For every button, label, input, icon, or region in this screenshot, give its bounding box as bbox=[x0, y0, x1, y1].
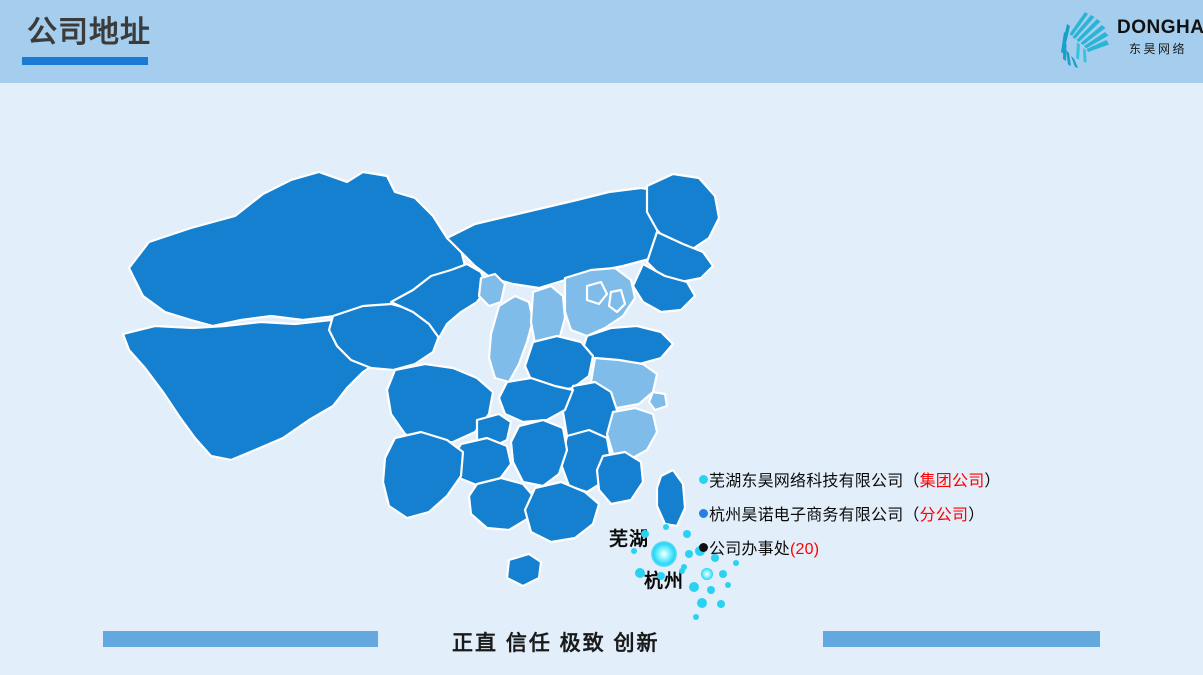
office-dot[interactable] bbox=[681, 564, 687, 570]
china-map[interactable]: 芜湖 杭州 bbox=[95, 120, 735, 620]
logo-subtitle: 东昊网络 bbox=[1117, 40, 1199, 57]
legend-bullet-icon bbox=[699, 475, 708, 484]
footer-bar-left bbox=[103, 631, 378, 647]
wing-fan-icon bbox=[1055, 6, 1117, 72]
legend-item-label: 公司办事处(20) bbox=[709, 535, 819, 559]
office-dot[interactable] bbox=[685, 550, 693, 558]
legend-bullet-icon bbox=[699, 509, 708, 518]
office-dot[interactable] bbox=[717, 600, 725, 608]
header-band: 公司地址 bbox=[0, 0, 1203, 83]
legend-item-group-company: 芜湖东昊网络科技有限公司（集团公司） bbox=[699, 462, 1029, 496]
office-dot[interactable] bbox=[725, 582, 731, 588]
office-dot[interactable] bbox=[663, 524, 669, 530]
legend-item-branch-company: 杭州昊诺电子商务有限公司（分公司） bbox=[699, 496, 1029, 530]
legend-item-offices: 公司办事处(20) bbox=[699, 530, 1029, 564]
office-dot[interactable] bbox=[689, 582, 699, 592]
legend-bullet-icon bbox=[699, 543, 708, 552]
page-title: 公司地址 bbox=[27, 18, 151, 48]
office-dot[interactable] bbox=[657, 572, 665, 580]
office-dot[interactable] bbox=[697, 598, 707, 608]
title-underline bbox=[22, 57, 148, 65]
legend-item-label: 芜湖东昊网络科技有限公司（集团公司） bbox=[709, 467, 1001, 491]
marker-hangzhou[interactable] bbox=[701, 568, 713, 580]
logo-name: DONGHAO bbox=[1117, 18, 1199, 38]
brand-logo: DONGHAO 东昊网络 bbox=[1055, 6, 1195, 74]
legend-item-label: 杭州昊诺电子商务有限公司（分公司） bbox=[709, 501, 984, 525]
map-label-hangzhou: 杭州 bbox=[644, 566, 684, 593]
footer-bar-right bbox=[823, 631, 1100, 647]
legend: 芜湖东昊网络科技有限公司（集团公司） 杭州昊诺电子商务有限公司（分公司） 公司办… bbox=[699, 462, 1029, 564]
office-dot[interactable] bbox=[631, 548, 637, 554]
office-dot[interactable] bbox=[693, 614, 699, 620]
company-motto: 正直 信任 极致 创新 bbox=[452, 627, 752, 657]
office-dot[interactable] bbox=[641, 530, 649, 538]
office-dot[interactable] bbox=[707, 586, 715, 594]
office-dot[interactable] bbox=[719, 570, 727, 578]
marker-wuhu[interactable] bbox=[651, 541, 677, 567]
office-dot[interactable] bbox=[683, 530, 691, 538]
office-dot[interactable] bbox=[635, 568, 645, 578]
logo-text-block: DONGHAO 东昊网络 bbox=[1117, 18, 1199, 57]
